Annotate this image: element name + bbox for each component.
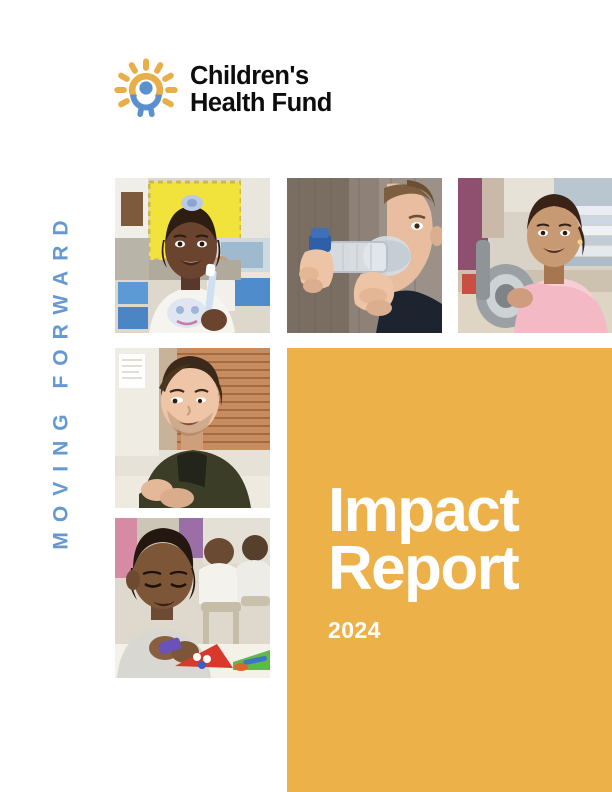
sun-with-child-figure-logo-icon: [113, 57, 179, 123]
photo-craft-boy-image: [115, 518, 270, 678]
report-cover-page: Children's Health Fund MOVING FORWARD: [0, 0, 612, 792]
spine-tagline: MOVING FORWARD: [44, 168, 80, 592]
photo-teen-counsel-image: [115, 348, 270, 508]
photo-craft-boy: [115, 518, 270, 678]
report-title-line1: Impact: [328, 482, 598, 540]
organization-logo: Children's Health Fund: [113, 57, 332, 123]
photo-inhaler-boy-image: [287, 178, 442, 333]
report-year: 2024: [328, 617, 598, 644]
photo-teen-counsel: [115, 348, 270, 508]
spine-tagline-text: MOVING FORWARD: [50, 210, 74, 549]
organization-wordmark: Children's Health Fund: [190, 63, 332, 117]
photo-pink-girl: [458, 178, 612, 333]
photo-inhaler-boy: [287, 178, 442, 333]
photo-pink-girl-image: [458, 178, 612, 333]
photo-classroom-girl-image: [115, 178, 270, 333]
report-title-block: Impact Report 2024: [328, 482, 598, 644]
report-title-line2: Report: [328, 540, 598, 598]
photo-classroom-girl: [115, 178, 270, 333]
